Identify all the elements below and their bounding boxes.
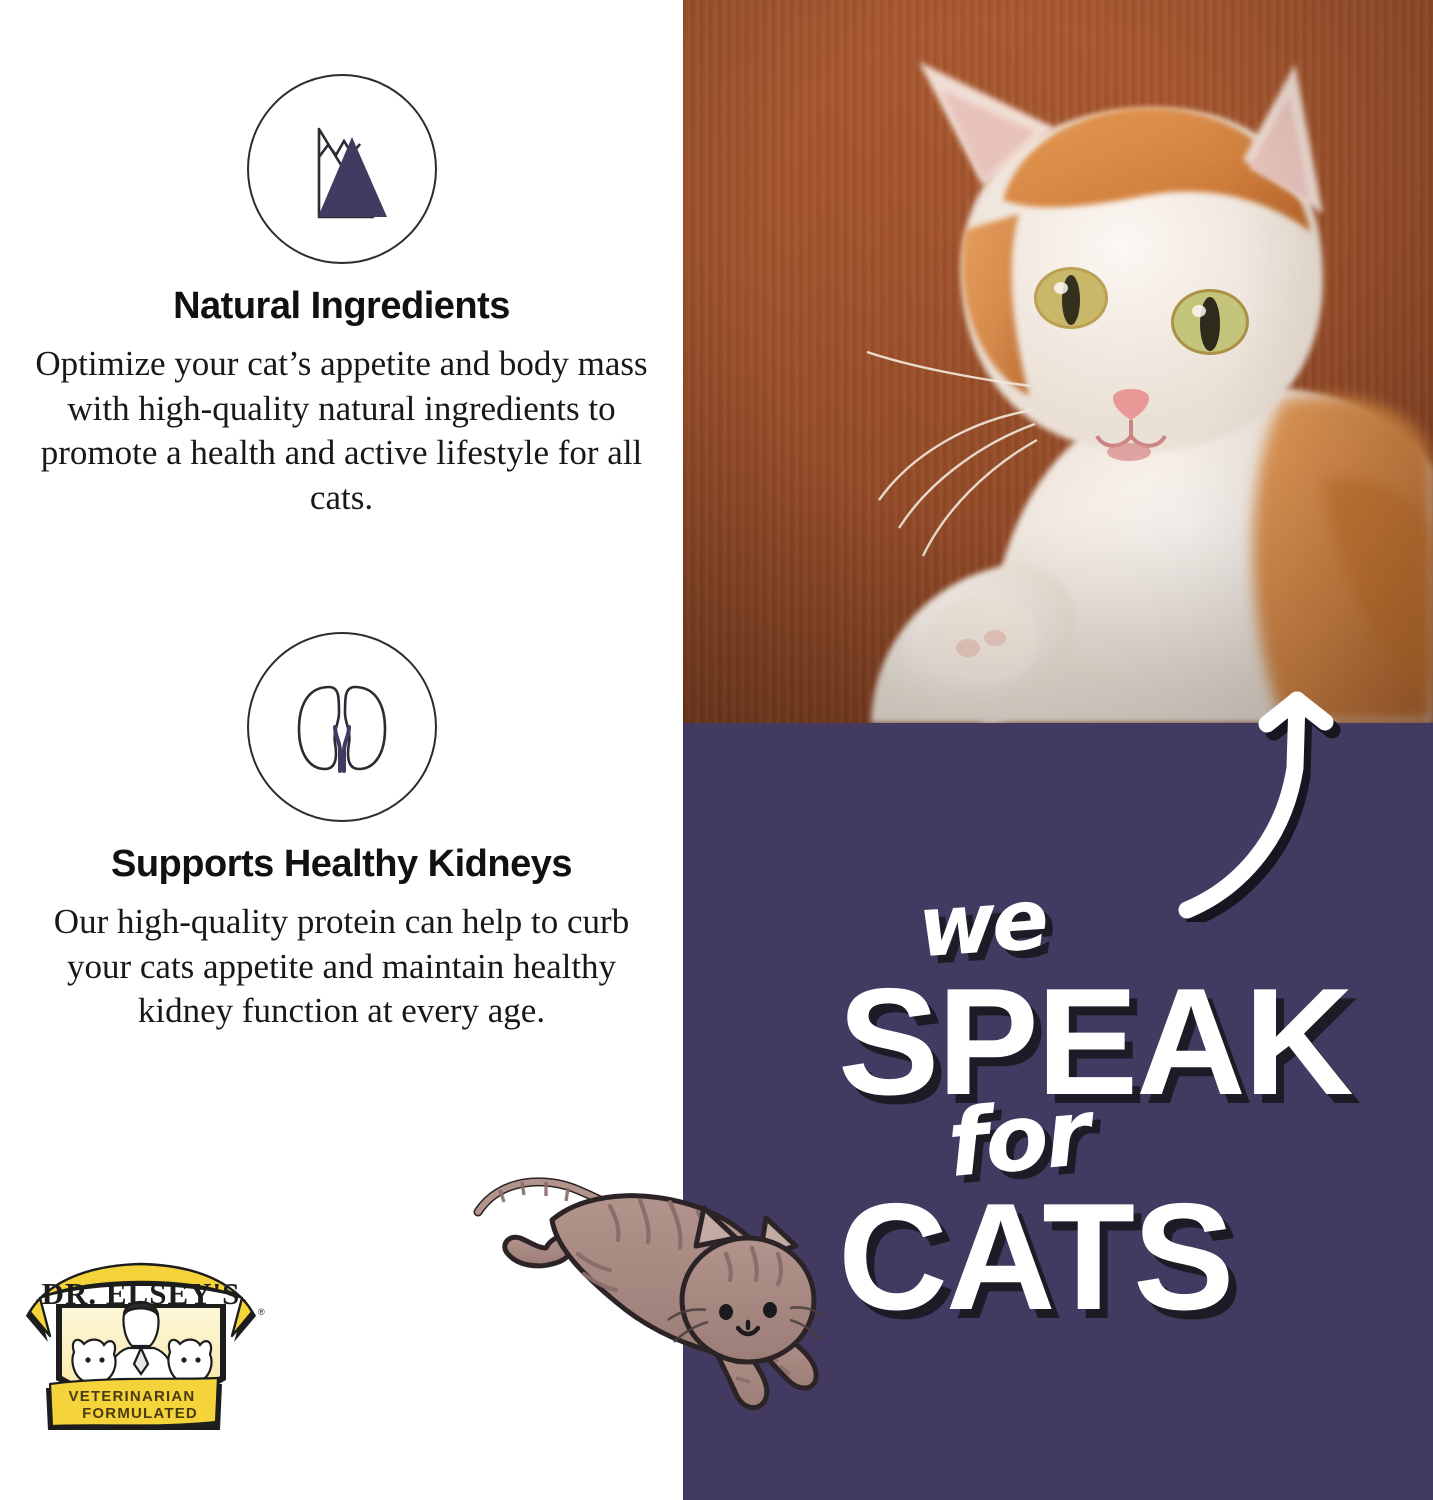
feature-body: Optimize your cat’s appetite and body ma…: [22, 342, 662, 521]
registered-mark: ®: [258, 1307, 265, 1317]
kidney-icon: [247, 632, 437, 822]
curved-arrow-icon: [1175, 672, 1385, 922]
feature-title: Natural Ingredients: [0, 286, 683, 328]
feature-natural-ingredients: Natural Ingredients Optimize your cat’s …: [0, 74, 683, 521]
curved-arrow-svg: [1175, 672, 1385, 922]
leaping-cat-illustration: [460, 1150, 840, 1450]
mountain-icon-svg: [277, 109, 407, 229]
logo-svg: DR. ELSEY'S ® VETERINARIAN FORMULATED: [12, 1252, 270, 1442]
logo-tagline-line1: VETERINARIAN: [69, 1388, 196, 1405]
cat-photo: [683, 0, 1433, 723]
feature-body: Our high-quality protein can help to cur…: [22, 900, 662, 1034]
feature-title: Supports Healthy Kidneys: [0, 844, 683, 886]
photo-vignette: [683, 0, 1433, 723]
dr-elseys-logo: DR. ELSEY'S ® VETERINARIAN FORMULATED: [12, 1252, 270, 1442]
kidney-icon-svg: [277, 667, 407, 787]
mountain-icon: [247, 74, 437, 264]
promo-banner: Natural Ingredients Optimize your cat’s …: [0, 0, 1433, 1500]
logo-brand-name: DR. ELSEY'S: [42, 1276, 241, 1311]
leaping-cat-svg: [460, 1150, 840, 1450]
logo-tagline-line2: FORMULATED: [82, 1405, 198, 1422]
feature-supports-healthy-kidneys: Supports Healthy Kidneys Our high-qualit…: [0, 632, 683, 1034]
